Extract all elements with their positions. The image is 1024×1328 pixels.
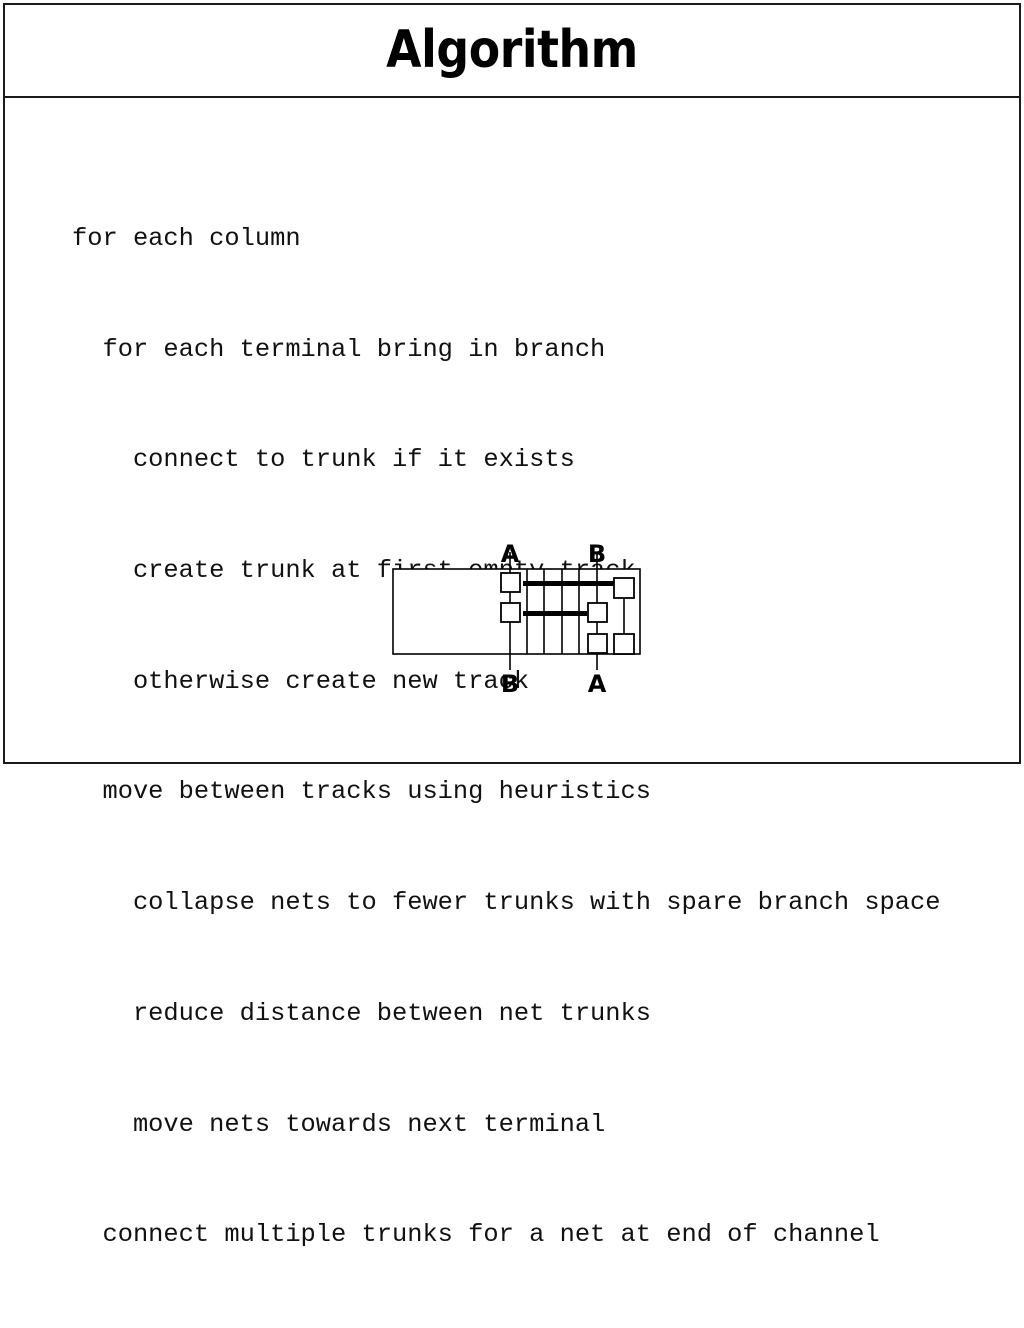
channel-routing-diagram: A B	[380, 537, 660, 697]
terminal-box	[588, 603, 607, 622]
code-line: collapse nets to fewer trunks with spare…	[72, 885, 941, 922]
diagram-label-bottom-left: B	[501, 670, 519, 697]
code-line: move nets towards next terminal	[72, 1107, 941, 1144]
page-title: Algorithm	[386, 24, 638, 76]
body-area: for each column for each terminal bring …	[0, 99, 1024, 764]
title-band: Algorithm	[3, 3, 1021, 98]
code-line: connect multiple trunks for a net at end…	[72, 1217, 941, 1254]
terminal-box	[501, 573, 520, 592]
code-line: reduce distance between net trunks	[72, 996, 941, 1033]
code-line: for each column	[72, 221, 941, 258]
trunk-segment	[523, 611, 587, 616]
terminal-box	[614, 578, 634, 598]
algorithm-pseudocode: for each column for each terminal bring …	[72, 147, 941, 1328]
terminal-box	[501, 603, 520, 622]
code-line: move between tracks using heuristics	[72, 774, 941, 811]
trunk-segment	[523, 581, 614, 586]
terminal-box	[614, 634, 634, 654]
code-line: connect to trunk if it exists	[72, 442, 941, 479]
slide: Algorithm for each column for each termi…	[0, 0, 1024, 768]
code-line: for each terminal bring in branch	[72, 332, 941, 369]
terminal-box	[588, 634, 607, 653]
diagram-label-bottom-right: A	[588, 670, 607, 697]
